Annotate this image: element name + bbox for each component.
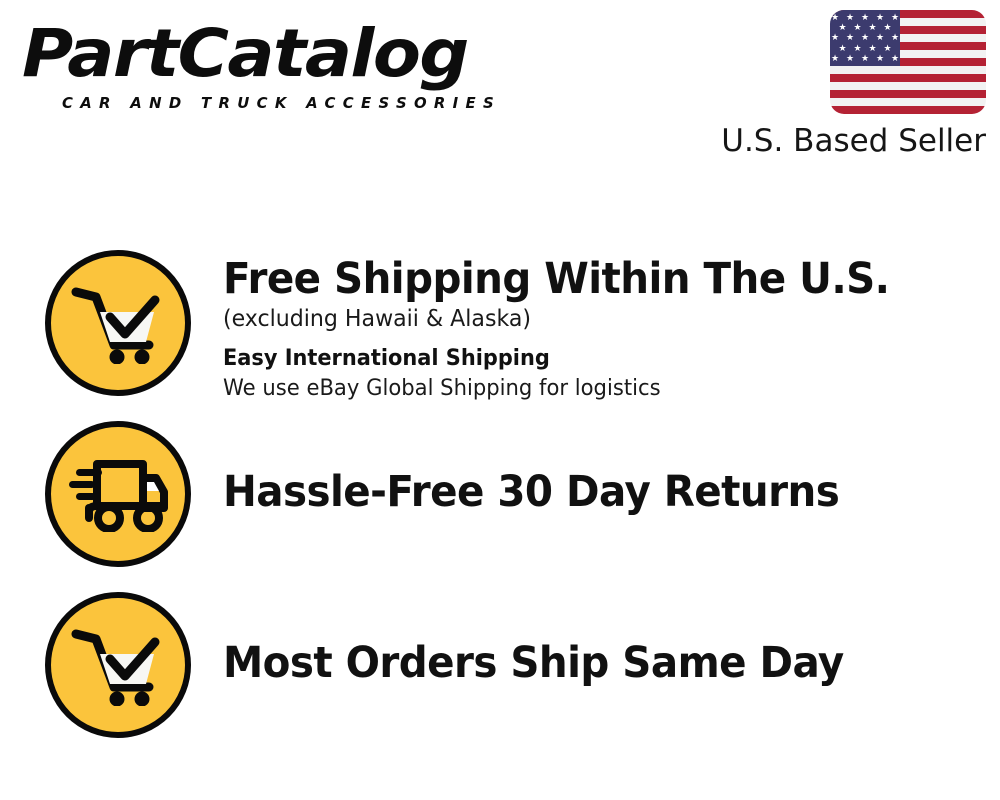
shopping-cart-check-icon [45, 592, 191, 738]
feature-subtitle: Easy International Shipping [223, 344, 945, 373]
shopping-cart-check-icon [45, 250, 191, 396]
feature-title: Most Orders Ship Same Day [223, 638, 937, 688]
brand-logo: PartCatalog CAR AND TRUCK ACCESSORIES [22, 18, 492, 116]
feature-title: Hassle-Free 30 Day Returns [223, 467, 937, 517]
page-header: PartCatalog CAR AND TRUCK ACCESSORIES ★★… [0, 0, 1000, 175]
feature-title: Free Shipping Within The U.S. [223, 254, 937, 304]
feature-text: Hassle-Free 30 Day Returns [223, 467, 983, 517]
feature-subtitle-note: We use eBay Global Shipping for logistic… [223, 373, 953, 404]
brand-wordmark: PartCatalog [22, 18, 468, 90]
feature-note: (excluding Hawaii & Alaska) [223, 304, 953, 334]
us-flag-icon: ★★★★★ ★★★★ ★★★★★ ★★★★ ★★★★★ [830, 10, 986, 114]
feature-text: Free Shipping Within The U.S. (excluding… [223, 254, 983, 404]
feature-text: Most Orders Ship Same Day [223, 638, 983, 688]
brand-tagline: CAR AND TRUCK ACCESSORIES [62, 94, 501, 112]
seller-badge: ★★★★★ ★★★★ ★★★★★ ★★★★ ★★★★★ U.S. Based S… [716, 10, 986, 159]
flag-stars: ★★★★★ ★★★★ ★★★★★ ★★★★ ★★★★★ [830, 10, 900, 66]
delivery-truck-icon [45, 421, 191, 567]
seller-label: U.S. Based Seller [716, 123, 986, 159]
